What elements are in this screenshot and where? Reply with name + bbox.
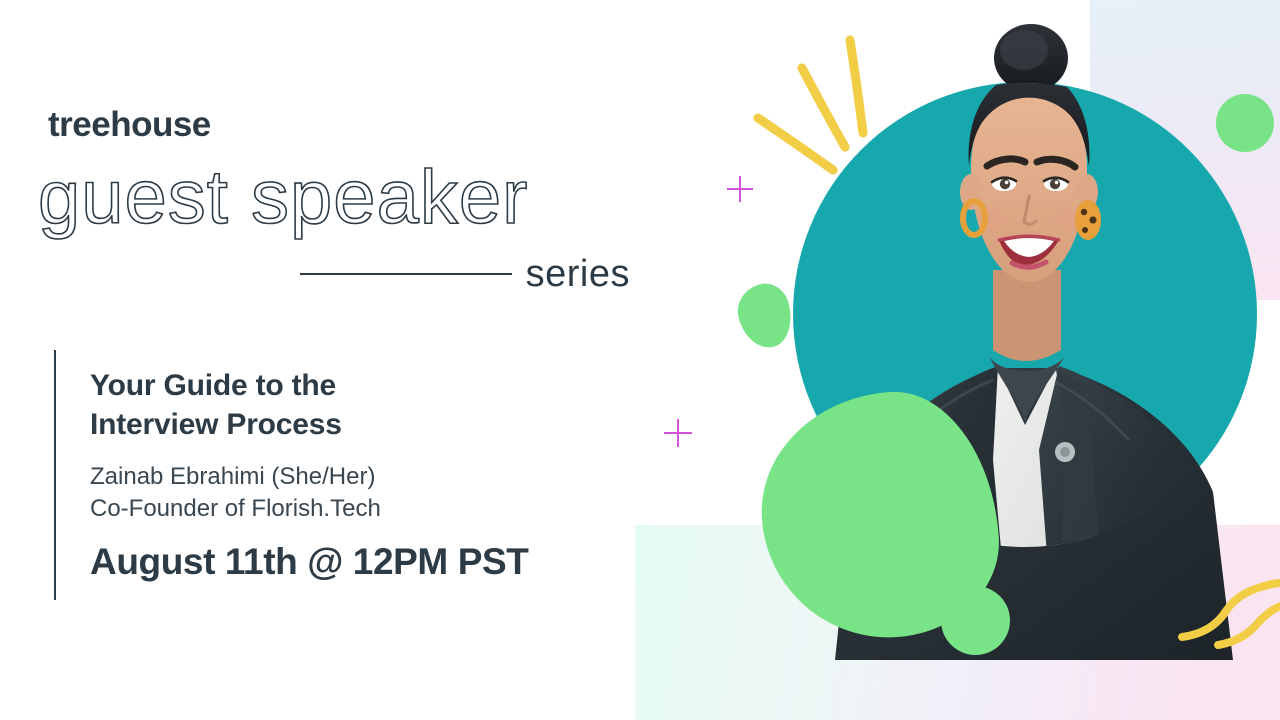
yellow-wave-strokes — [1160, 575, 1280, 685]
series-label: series — [526, 255, 630, 293]
speaker-name: Zainab Ebrahimi (She/Her) — [90, 461, 650, 493]
series-divider-rule — [300, 273, 512, 275]
plus-mark-upper-icon — [727, 176, 753, 202]
speaker-role: Co-Founder of Florish.Tech — [90, 493, 650, 525]
green-blob-small-shape — [732, 279, 798, 354]
series-row: series — [300, 255, 630, 293]
hero-outline-title: guest speaker — [38, 160, 528, 236]
talk-title: Your Guide to the Interview Process — [90, 366, 650, 444]
event-details: Your Guide to the Interview Process Zain… — [90, 366, 650, 582]
plus-mark-lower-icon — [664, 419, 692, 447]
promo-slide: treehouse guest speaker series Your Guid… — [0, 0, 1280, 720]
detail-accent-rule — [54, 350, 56, 600]
treehouse-wordmark: treehouse — [48, 107, 211, 142]
green-dot-bottom-shape — [941, 586, 1010, 655]
event-datetime: August 11th @ 12PM PST — [90, 542, 650, 583]
